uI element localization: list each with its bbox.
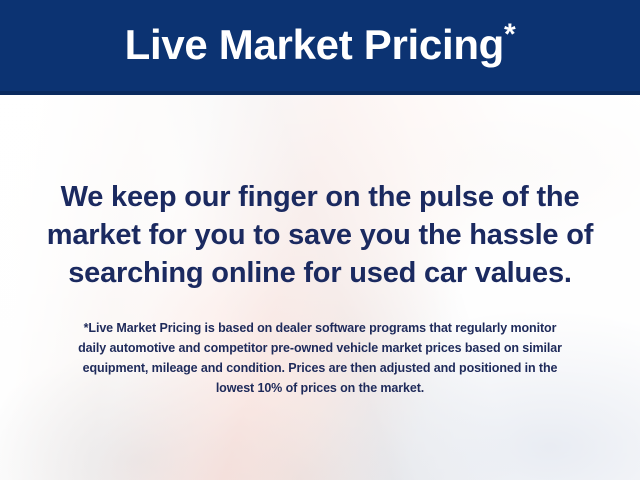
disclaimer-line-2: daily automotive and competitor pre-owne… xyxy=(30,338,610,358)
headline-line-2: market for you to save you the hassle of xyxy=(0,216,640,254)
disclaimer-line-1: *Live Market Pricing is based on dealer … xyxy=(30,318,610,338)
header-underline-rule xyxy=(0,91,640,95)
disclaimer-line-3: equipment, mileage and condition. Prices… xyxy=(30,358,610,378)
disclaimer-block: *Live Market Pricing is based on dealer … xyxy=(30,318,610,398)
live-market-pricing-banner: Live Market Pricing* We keep our finger … xyxy=(0,0,640,480)
headline-line-1: We keep our finger on the pulse of the xyxy=(0,178,640,216)
page-title-text: Live Market Pricing xyxy=(125,21,504,68)
disclaimer-line-4: lowest 10% of prices on the market. xyxy=(30,378,610,398)
headline-line-3: searching online for used car values. xyxy=(0,254,640,292)
title-asterisk-marker: * xyxy=(504,18,515,51)
headline-block: We keep our finger on the pulse of the m… xyxy=(0,178,640,292)
header-band: Live Market Pricing* xyxy=(0,0,640,91)
page-title: Live Market Pricing* xyxy=(125,24,516,68)
